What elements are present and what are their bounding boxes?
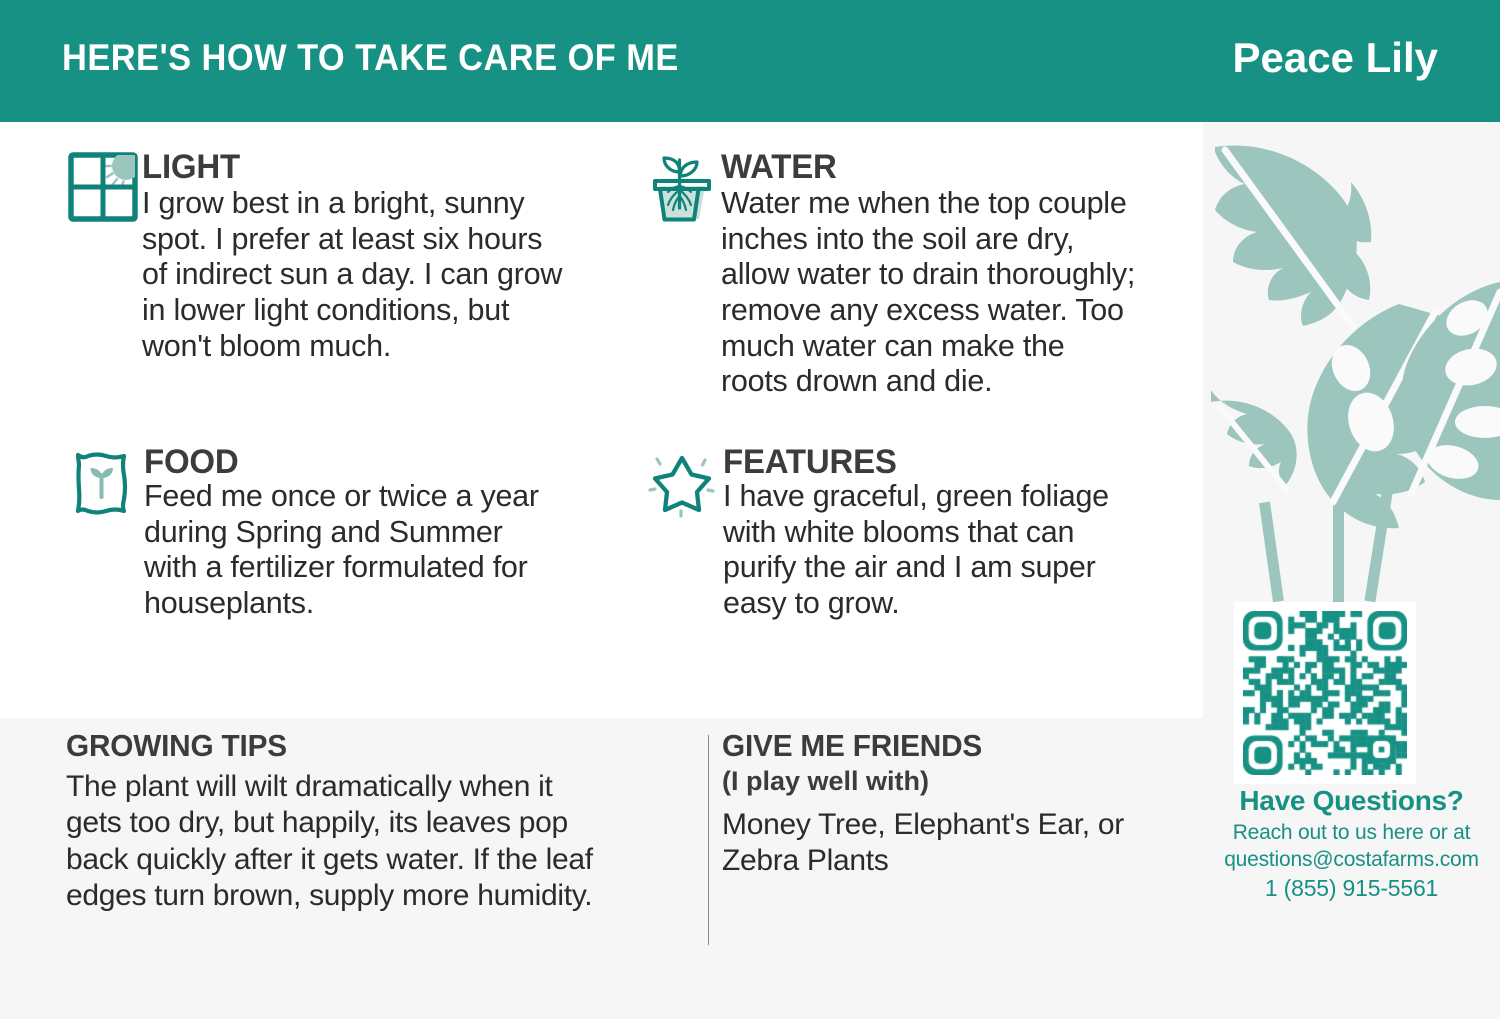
care-section-food: FOOD Feed me once or twice a year during… [66,443,626,622]
care-section-features: FEATURES I have graceful, green foliage … [645,443,1205,622]
friends-text: Money Tree, Elephant's Ear, or Zebra Pla… [722,807,1162,880]
section-text-water: Water me when the top couple inches into… [721,186,1205,400]
care-section-light: LIGHT I grow best in a bright, sunny spo… [66,148,626,364]
plant-care-card: HERE'S HOW TO TAKE CARE OF ME Peace Lily [0,0,1500,1019]
contact-heading: Have Questions? [1203,786,1500,817]
growing-tips-title: GROWING TIPS [66,730,666,763]
page-title: HERE'S HOW TO TAKE CARE OF ME [62,37,679,79]
header-bar: HERE'S HOW TO TAKE CARE OF ME Peace Lily [0,0,1500,122]
section-title-food: FOOD [144,445,612,479]
section-title-features: FEATURES [723,445,1191,479]
qr-code[interactable] [1234,602,1416,784]
section-text-food: Feed me once or twice a year during Spri… [144,479,626,622]
section-text-features: I have graceful, green foliage with whit… [723,479,1205,622]
plant-name: Peace Lily [1233,34,1438,82]
contact-line-1: Reach out to us here or at [1203,820,1500,847]
vertical-divider [708,735,709,945]
fertilizer-bag-icon [66,445,140,519]
qr-code-canvas [1243,611,1407,775]
section-text-light: I grow best in a bright, sunny spot. I p… [142,186,626,364]
contact-phone[interactable]: 1 (855) 915-5561 [1203,874,1500,904]
window-sun-icon [66,150,140,224]
growing-tips-text: The plant will wilt dramatically when it… [66,769,691,915]
contact-email[interactable]: questions@costafarms.com [1203,847,1500,874]
give-me-friends-section: GIVE ME FRIENDS (I play well with) Money… [722,730,1162,880]
monstera-leaves-pattern [1203,122,1500,602]
friends-subtitle: (I play well with) [722,767,1162,795]
section-title-water: WATER [721,150,1190,184]
growing-tips-section: GROWING TIPS The plant will wilt dramati… [66,730,691,915]
sparkle-star-icon [645,445,719,519]
potted-plant-water-icon [645,150,719,224]
section-title-light: LIGHT [142,150,611,184]
contact-block: Have Questions? Reach out to us here or … [1203,786,1500,903]
friends-title: GIVE ME FRIENDS [722,730,1144,763]
care-section-water: WATER Water me when the top couple inche… [645,148,1205,400]
